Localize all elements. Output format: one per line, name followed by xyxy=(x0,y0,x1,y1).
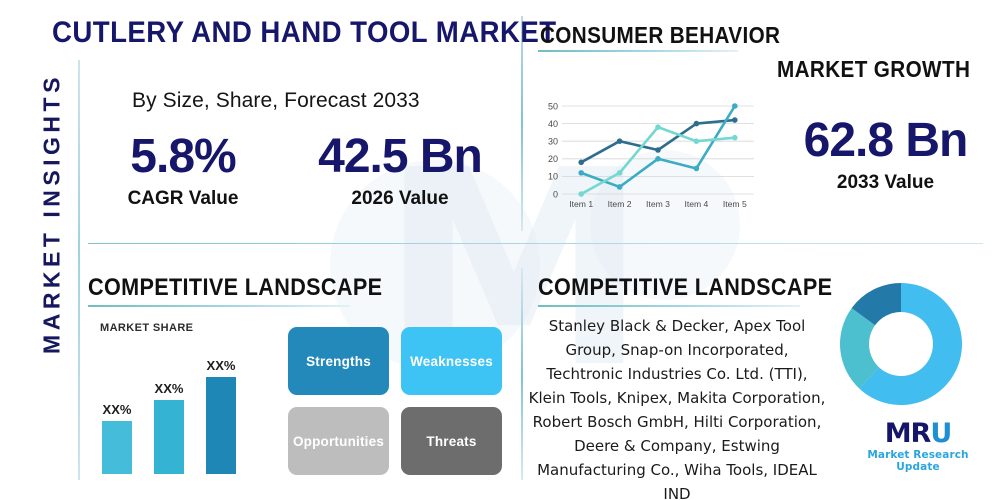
logo-wordmark: MRU xyxy=(885,420,952,448)
market-share-bar-chart: MARKET SHARE XX%XX%XX% xyxy=(96,322,272,474)
line-chart-svg: 01020304050 Item 1Item 2Item 3Item 4Item… xyxy=(536,96,758,224)
line-chart-x-ticks: Item 1Item 2Item 3Item 4Item 5 xyxy=(569,199,747,209)
kpi-2033-value: 62.8 Bn 2033 Value xyxy=(768,112,1000,194)
section-title-market-growth: MARKET GROWTH xyxy=(777,56,970,83)
market-share-donut-chart xyxy=(838,281,964,407)
kpi-cagr: 5.8% CAGR Value xyxy=(98,128,268,210)
bar-value-label-2: XX% xyxy=(145,381,193,396)
kpi-cagr-value: 5.8% xyxy=(98,128,268,186)
section-title-consumer-behavior: CONSUMER BEHAVIOR xyxy=(540,22,780,49)
svg-text:Item 3: Item 3 xyxy=(646,199,670,209)
kpi-2026-value-text: 42.5 Bn xyxy=(300,128,500,186)
swot-cell-weaknesses[interactable]: Weaknesses xyxy=(401,327,502,395)
bar-1 xyxy=(102,421,132,474)
page-subtitle: By Size, Share, Forecast 2033 xyxy=(132,89,420,113)
bar-2 xyxy=(154,400,184,474)
page-title: CUTLERY AND HAND TOOL MARKET xyxy=(52,16,557,50)
section-underline-competitive-landscape-left xyxy=(88,305,350,307)
divider-horizontal xyxy=(88,243,983,244)
swot-matrix: Strengths Weaknesses Opportunities Threa… xyxy=(288,327,502,475)
donut-chart-svg xyxy=(838,281,964,407)
svg-text:50: 50 xyxy=(548,101,558,111)
divider-vertical-middle-bottom xyxy=(521,268,523,480)
swot-cell-threats[interactable]: Threats xyxy=(401,407,502,475)
kpi-cagr-caption: CAGR Value xyxy=(98,188,268,210)
svg-text:Item 4: Item 4 xyxy=(684,199,708,209)
logo-mark-accent: U xyxy=(930,418,951,449)
svg-text:Item 2: Item 2 xyxy=(608,199,632,209)
kpi-2033-value-text: 62.8 Bn xyxy=(768,112,1000,170)
infographic-canvas: M MARKET INSIGHTS CUTLERY AND HAND TOOL … xyxy=(0,0,1000,500)
svg-text:30: 30 xyxy=(548,137,558,147)
section-underline-competitive-landscape-right xyxy=(538,305,800,307)
line-chart-series xyxy=(578,103,737,197)
section-title-competitive-landscape-left: COMPETITIVE LANDSCAPE xyxy=(88,274,382,302)
bar-3 xyxy=(206,377,236,474)
section-underline-consumer-behavior xyxy=(538,50,738,52)
line-chart-y-ticks: 01020304050 xyxy=(548,101,558,199)
divider-vertical-left xyxy=(78,60,80,480)
bar-value-label-3: XX% xyxy=(197,358,245,373)
svg-text:Item 5: Item 5 xyxy=(723,199,747,209)
side-label-market-insights: MARKET INSIGHTS xyxy=(39,64,66,364)
svg-text:0: 0 xyxy=(553,189,558,199)
kpi-2026-value: 42.5 Bn 2026 Value xyxy=(300,128,500,210)
consumer-behavior-line-chart: 01020304050 Item 1Item 2Item 3Item 4Item… xyxy=(536,96,758,224)
mru-logo: MRU Market Research Update xyxy=(848,420,988,473)
bar-chart-title: MARKET SHARE xyxy=(100,322,193,334)
kpi-2026-caption: 2026 Value xyxy=(300,188,500,210)
competitor-company-list: Stanley Black & Decker, Apex Tool Group,… xyxy=(528,314,826,500)
logo-mark-main: MR xyxy=(885,418,931,449)
svg-text:20: 20 xyxy=(548,154,558,164)
swot-cell-opportunities[interactable]: Opportunities xyxy=(288,407,389,475)
svg-text:Item 1: Item 1 xyxy=(569,199,593,209)
kpi-2033-caption: 2033 Value xyxy=(768,172,1000,194)
swot-cell-strengths[interactable]: Strengths xyxy=(288,327,389,395)
svg-text:40: 40 xyxy=(548,119,558,129)
section-title-competitive-landscape-right: COMPETITIVE LANDSCAPE xyxy=(538,274,832,302)
svg-text:10: 10 xyxy=(548,172,558,182)
bar-value-label-1: XX% xyxy=(93,402,141,417)
logo-tagline: Market Research Update xyxy=(848,449,988,473)
donut-segments xyxy=(840,283,962,405)
